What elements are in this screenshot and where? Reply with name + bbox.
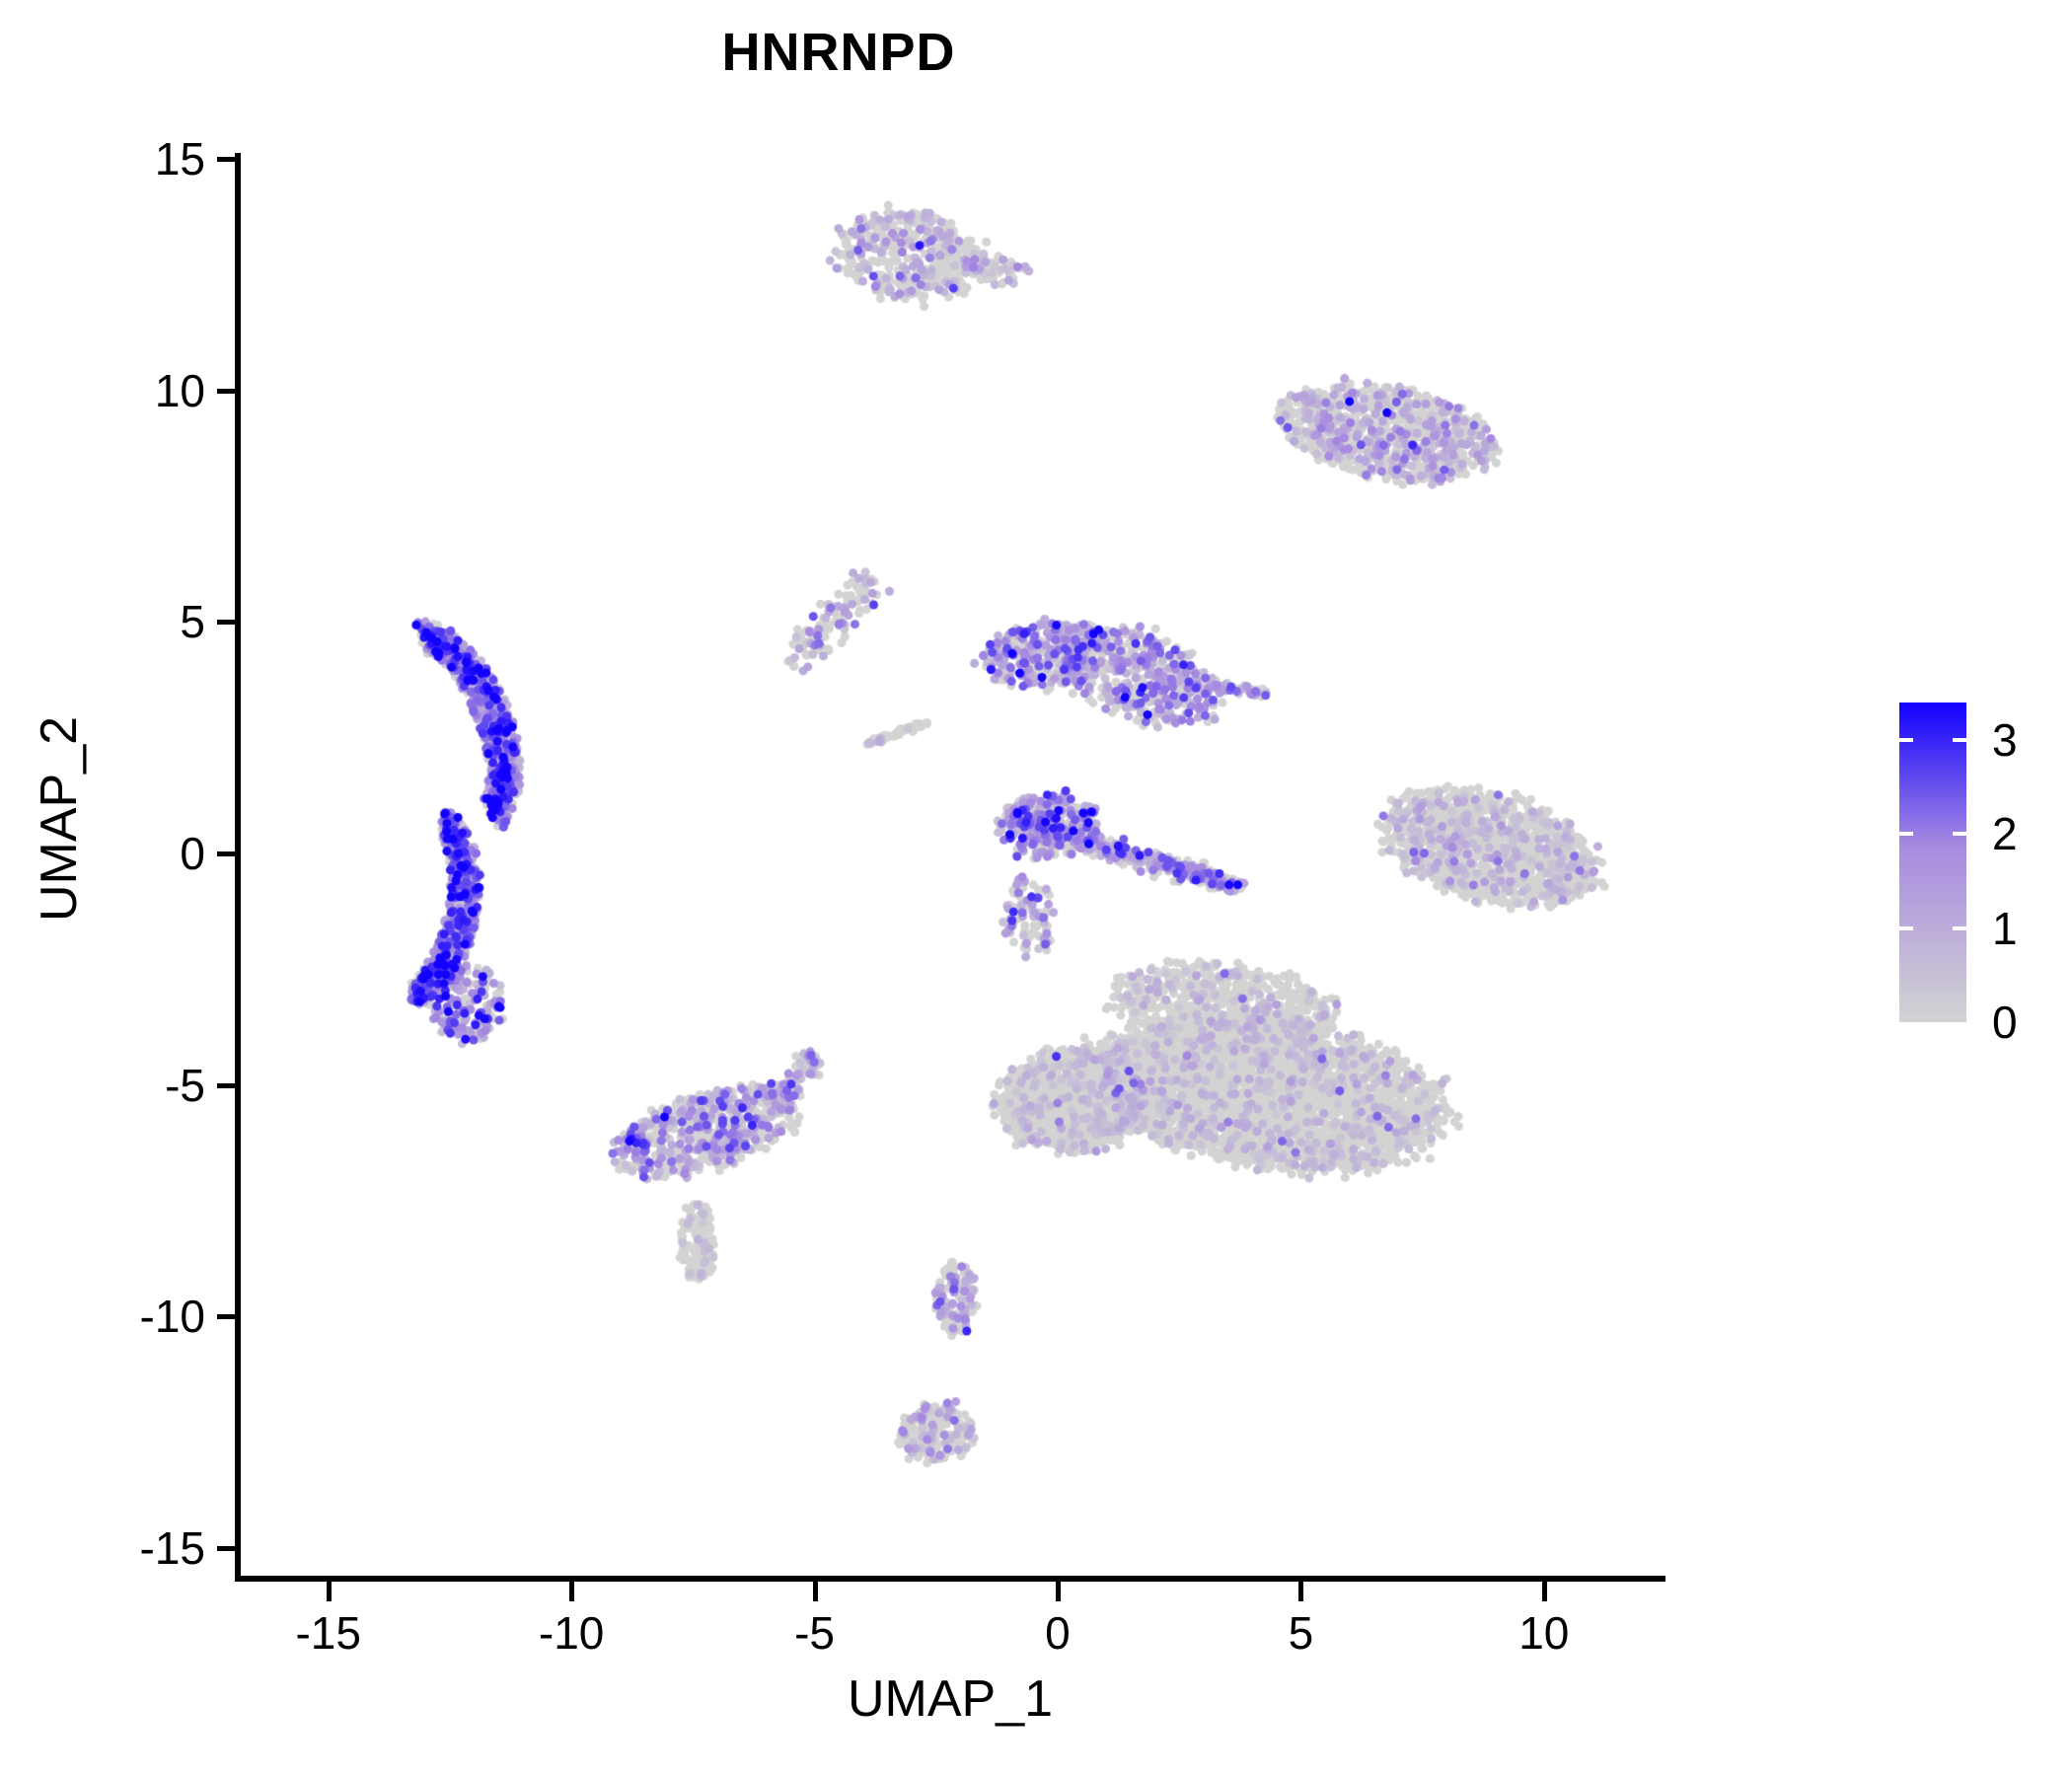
legend-tick-mark <box>1899 926 1913 930</box>
x-tick-mark <box>1056 1582 1061 1601</box>
y-tick-mark <box>217 389 235 394</box>
legend-tick-mark <box>1899 738 1913 742</box>
x-tick-label: -5 <box>736 1606 894 1660</box>
legend-tick-mark <box>1953 832 1966 836</box>
x-tick-label: 5 <box>1221 1606 1379 1660</box>
y-axis-label: UMAP_2 <box>30 474 89 1164</box>
x-tick-mark <box>327 1582 332 1601</box>
umap-feature-plot: HNRNPD -15-10-5051015 -15-10-50510 UMAP_… <box>0 0 2072 1776</box>
x-tick-label: -15 <box>250 1606 407 1660</box>
x-tick-label: -10 <box>492 1606 650 1660</box>
y-tick-label: -10 <box>0 1290 205 1343</box>
x-tick-mark <box>813 1582 818 1601</box>
legend-label: 2 <box>1992 807 2018 860</box>
y-tick-mark <box>217 1546 235 1551</box>
y-axis-line <box>235 153 241 1582</box>
scatter-plot-canvas <box>241 99 1665 1576</box>
legend-label: 1 <box>1992 902 2018 955</box>
legend-gradient-bar <box>1899 703 1966 1022</box>
x-tick-label: 10 <box>1465 1606 1623 1660</box>
legend-tick-mark <box>1953 926 1966 930</box>
y-tick-label: -15 <box>0 1521 205 1575</box>
x-tick-mark <box>1298 1582 1303 1601</box>
y-tick-mark <box>217 851 235 856</box>
y-tick-mark <box>217 1083 235 1088</box>
x-tick-mark <box>1542 1582 1547 1601</box>
page-title: HNRNPD <box>0 22 1677 83</box>
x-tick-mark <box>569 1582 574 1601</box>
color-legend <box>1899 703 1966 1022</box>
x-tick-label: 0 <box>979 1606 1137 1660</box>
legend-tick-mark <box>1899 832 1913 836</box>
x-axis-line <box>235 1576 1665 1582</box>
y-tick-mark <box>217 1314 235 1319</box>
y-tick-label: 15 <box>0 132 205 185</box>
legend-label: 3 <box>1992 713 2018 767</box>
legend-label: 0 <box>1992 996 2018 1049</box>
y-tick-label: 10 <box>0 364 205 417</box>
y-tick-mark <box>217 620 235 625</box>
x-axis-label: UMAP_1 <box>235 1669 1665 1729</box>
legend-tick-mark <box>1953 738 1966 742</box>
y-tick-mark <box>217 157 235 162</box>
